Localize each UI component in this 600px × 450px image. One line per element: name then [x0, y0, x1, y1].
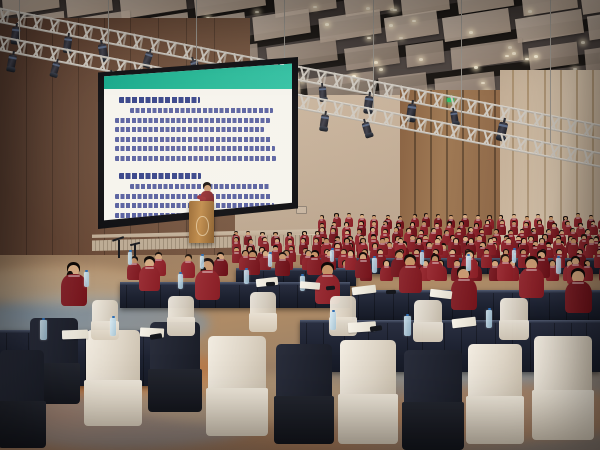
water-bottle — [330, 312, 336, 330]
polo-collar — [469, 243, 474, 245]
audience-member — [140, 256, 159, 298]
chair-back-cover — [534, 336, 592, 396]
polo-collar — [469, 232, 473, 234]
chair-with-cover — [168, 296, 194, 336]
polo-collar — [435, 243, 440, 245]
water-bottle — [200, 256, 204, 269]
bottle-cap — [112, 316, 115, 319]
polo-collar — [556, 243, 561, 245]
audience-member-female — [62, 262, 85, 314]
table-skirt-fold — [239, 285, 240, 308]
chair-back-cover — [500, 298, 528, 322]
water-bottle — [466, 256, 471, 271]
bottle-cap — [406, 314, 409, 317]
polo-collar — [322, 275, 333, 277]
table-skirt-fold — [126, 285, 127, 308]
table-skirt-fold — [374, 293, 375, 320]
water-bottle — [84, 272, 89, 287]
polo-collar — [457, 233, 461, 235]
chair-back-cover — [414, 300, 442, 324]
chair-seat-cover — [413, 322, 443, 342]
bottle-cap — [373, 256, 376, 259]
table-skirt-fold — [530, 323, 531, 372]
polo-collar — [512, 218, 516, 220]
bottle-cap — [332, 310, 335, 313]
water-bottle — [268, 254, 272, 267]
bottle-cap — [42, 318, 45, 321]
torso-polo-shirt — [275, 259, 289, 276]
chair-back-cover — [250, 292, 276, 315]
polo-collar — [359, 226, 363, 228]
audience-member — [400, 254, 421, 300]
chair-back-cover — [404, 350, 462, 408]
bottle-cap — [513, 248, 516, 251]
polo-collar — [249, 258, 256, 260]
torso-polo-shirt — [519, 268, 544, 298]
bottle-cap — [129, 250, 132, 253]
chair-with-cover — [276, 344, 332, 444]
polo-collar — [484, 255, 489, 257]
polo-collar — [576, 217, 580, 219]
polo-collar — [371, 240, 376, 242]
water-bottle — [40, 320, 47, 340]
chair-with-cover — [500, 298, 528, 340]
polo-collar — [398, 243, 403, 245]
polo-collar — [360, 260, 367, 262]
chair-back-cover — [168, 296, 194, 319]
polo-collar — [378, 255, 383, 257]
chair-seat-cover — [84, 380, 142, 426]
smartphone — [266, 282, 275, 286]
bottle-cap — [467, 254, 470, 257]
chair-with-cover — [340, 340, 396, 444]
polo-collar — [432, 262, 439, 264]
chair-back-cover — [208, 336, 266, 394]
audience-seating-area — [0, 0, 600, 450]
water-bottle — [556, 258, 561, 274]
chair-with-cover — [468, 344, 522, 444]
smartphone — [386, 290, 396, 294]
chair-with-cover — [534, 336, 592, 440]
torso-polo-shirt — [497, 262, 513, 281]
audience-member — [428, 254, 442, 285]
polo-collar — [263, 242, 267, 244]
torso-polo-shirt — [139, 266, 160, 291]
bottle-cap — [179, 272, 182, 275]
polo-collar — [398, 220, 402, 222]
chair-seat-cover — [206, 388, 269, 436]
chair-seat-cover — [402, 402, 465, 450]
polo-collar — [405, 266, 415, 268]
audience-member — [566, 268, 590, 322]
audience-member — [182, 254, 195, 282]
polo-collar — [437, 218, 441, 220]
polo-collar — [234, 252, 239, 254]
torso-polo-shirt — [565, 281, 592, 313]
torso-polo-shirt — [451, 278, 477, 309]
smartphone — [326, 286, 335, 291]
chair-with-cover — [86, 330, 140, 426]
water-bottle — [404, 316, 411, 336]
handout-paper — [62, 330, 88, 340]
polo-collar — [549, 220, 553, 222]
table-skirt-fold — [358, 293, 359, 320]
chair-seat-cover — [249, 313, 277, 332]
microphone-stand — [134, 244, 136, 258]
water-bottle — [486, 310, 492, 328]
polo-collar — [301, 243, 305, 245]
polo-collar — [476, 219, 480, 221]
table-skirt-fold — [393, 293, 394, 320]
audience-member — [356, 252, 370, 283]
polo-collar — [246, 235, 250, 237]
bottle-cap — [488, 308, 491, 311]
polo-collar — [485, 225, 489, 227]
chair-seat-cover — [499, 320, 529, 340]
water-bottle — [128, 252, 132, 265]
chair-with-cover — [208, 336, 266, 436]
polo-collar — [311, 258, 318, 260]
polo-collar — [538, 225, 542, 227]
polo-collar — [572, 282, 584, 284]
bottle-cap — [245, 268, 248, 271]
chair-seat-cover — [532, 390, 595, 440]
bottle-cap — [421, 250, 424, 253]
polo-collar — [314, 243, 318, 245]
polo-collar — [500, 225, 504, 227]
chair-back-cover — [276, 344, 332, 402]
chair-seat-cover — [148, 369, 202, 412]
polo-collar — [447, 226, 451, 228]
water-bottle — [244, 270, 249, 284]
polo-collar — [288, 236, 292, 238]
water-bottle — [420, 252, 424, 265]
polo-collar — [458, 279, 470, 281]
table-skirt-fold — [549, 293, 550, 320]
chair-seat-cover — [466, 396, 524, 444]
audience-member — [498, 254, 512, 286]
chair-seat-cover — [167, 317, 195, 336]
polo-collar — [589, 243, 594, 245]
audience-member — [276, 252, 289, 281]
bottle-cap — [201, 254, 204, 257]
polo-collar — [512, 225, 516, 227]
polo-collar — [348, 256, 353, 258]
table-skirt-fold — [143, 333, 144, 386]
chair-with-cover — [404, 350, 462, 450]
chair-back-cover — [0, 350, 44, 407]
chair-seat-cover — [274, 396, 334, 444]
audience-member — [452, 266, 475, 318]
polo-collar — [526, 269, 537, 271]
conference-hall-photo — [0, 0, 600, 450]
polo-collar — [316, 235, 320, 237]
bottle-cap — [301, 274, 304, 277]
table-skirt-fold — [297, 285, 298, 308]
bottle-cap — [557, 256, 560, 259]
water-bottle — [110, 318, 116, 336]
polo-collar — [360, 218, 364, 220]
bottle-cap — [269, 252, 272, 255]
polo-collar — [450, 255, 455, 257]
torso-polo-shirt — [427, 261, 443, 280]
polo-collar — [202, 271, 213, 273]
polo-collar — [145, 267, 154, 269]
torso-polo-shirt — [61, 274, 87, 305]
chair-back-cover — [340, 340, 396, 400]
microphone-stand — [118, 240, 120, 258]
bottle-cap — [331, 248, 334, 251]
polo-collar — [185, 261, 191, 263]
chair-with-cover — [0, 350, 44, 448]
water-bottle — [178, 274, 183, 289]
polo-collar — [582, 240, 587, 242]
water-bottle — [330, 250, 334, 262]
torso-polo-shirt — [195, 270, 220, 300]
polo-collar — [579, 227, 583, 229]
water-bottle — [512, 250, 516, 263]
polo-collar — [383, 234, 387, 236]
torso-polo-shirt — [181, 261, 195, 278]
polo-collar — [234, 242, 238, 244]
bottle-cap — [85, 270, 88, 273]
polo-collar — [463, 218, 467, 220]
torso-polo-shirt — [399, 265, 422, 293]
chair-seat-cover — [338, 394, 398, 444]
chair-seat-cover — [0, 401, 46, 448]
table-skirt-fold — [160, 285, 161, 308]
torso-polo-shirt — [355, 259, 371, 278]
polo-collar — [131, 263, 137, 265]
chair-with-cover — [250, 292, 276, 332]
water-bottle — [372, 258, 377, 273]
table-skirt-fold — [279, 285, 280, 308]
polo-collar — [345, 227, 349, 229]
chair-back-cover — [468, 344, 522, 402]
polo-collar — [502, 262, 509, 264]
table-skirt-fold — [493, 293, 494, 320]
chair-with-cover — [414, 300, 442, 342]
polo-collar — [68, 275, 80, 277]
